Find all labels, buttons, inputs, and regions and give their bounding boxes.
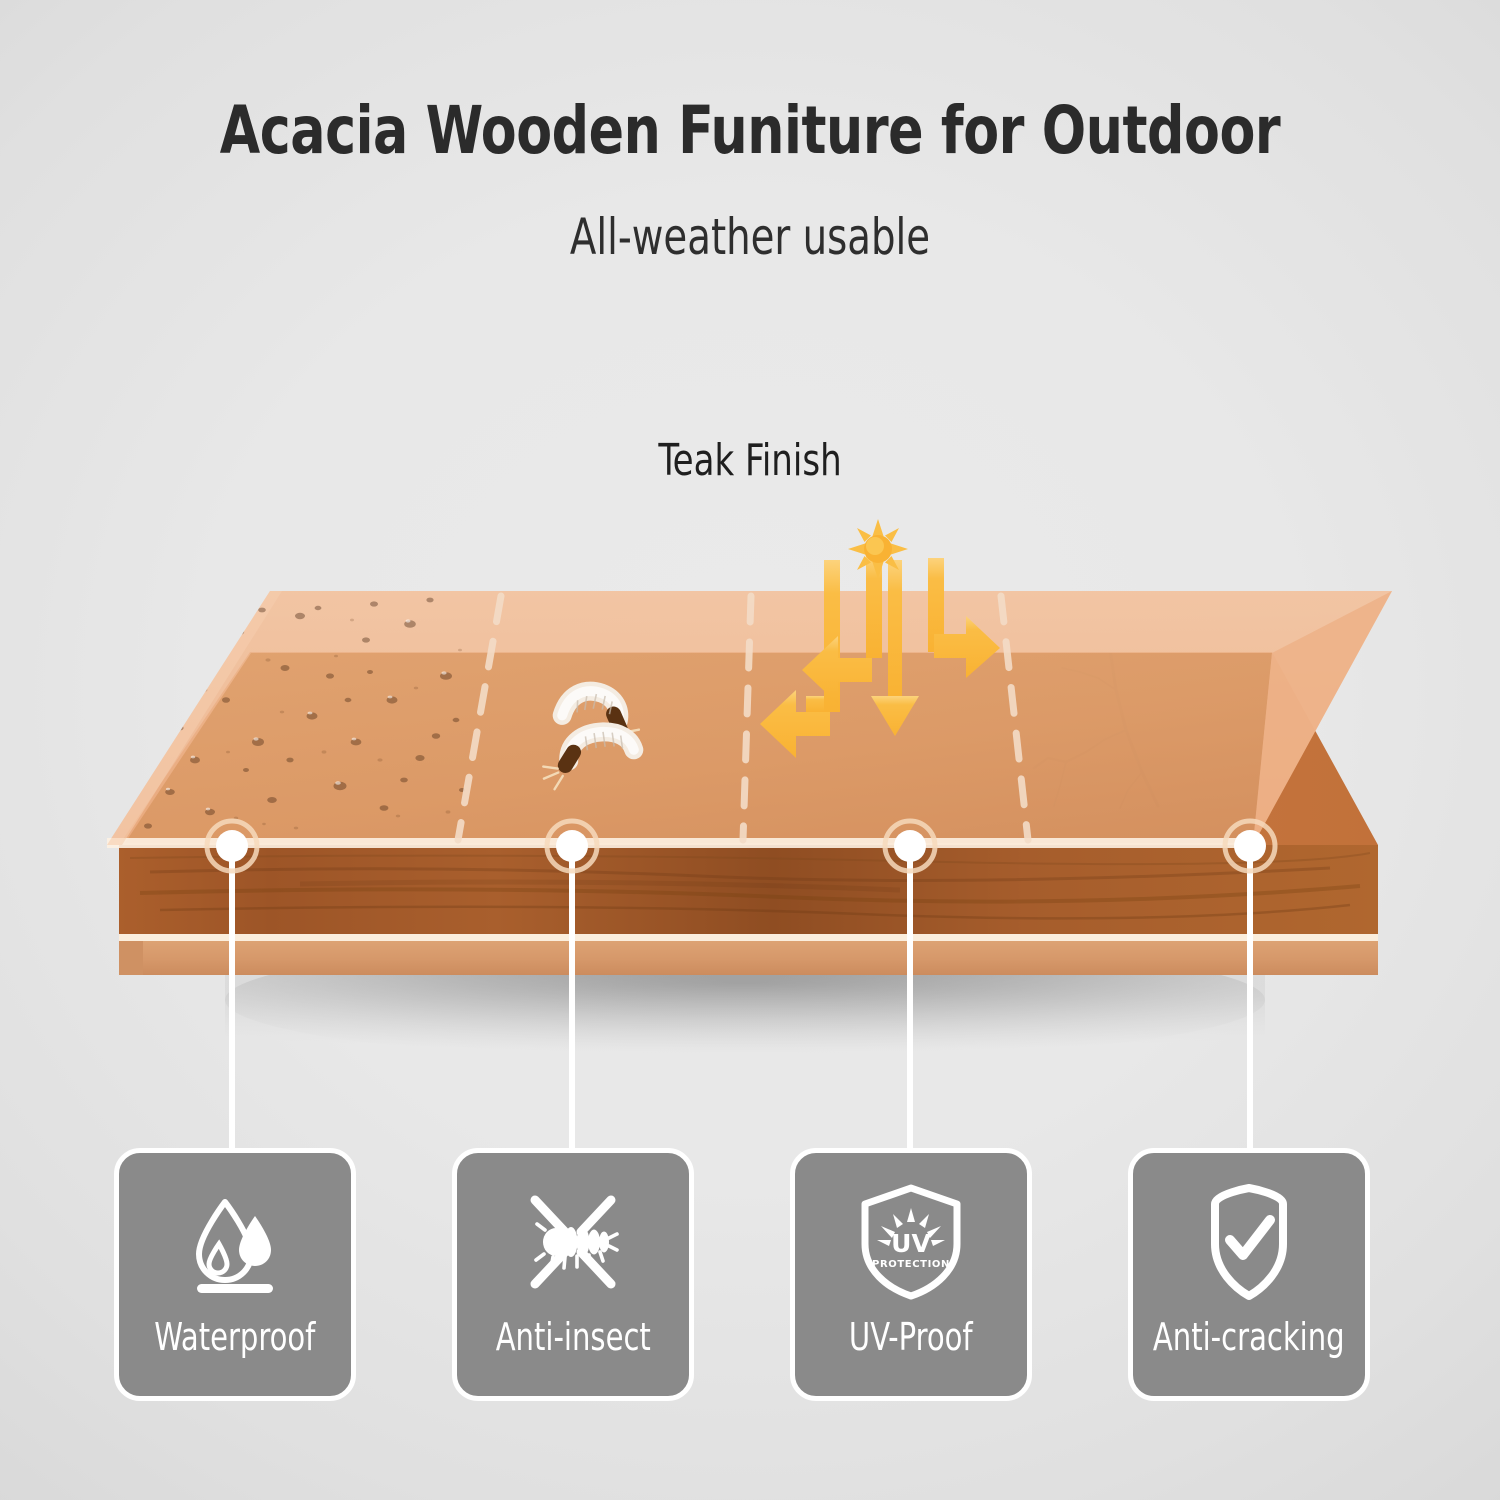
insect-crossed-out-icon bbox=[515, 1183, 631, 1301]
shield-check-icon bbox=[1197, 1183, 1301, 1301]
feature-cards: Waterproof bbox=[0, 1148, 1500, 1418]
uv-protection-shield-icon: UV PROTECTION bbox=[853, 1183, 969, 1301]
feature-card-uv-proof[interactable]: UV PROTECTION UV-Proof bbox=[790, 1148, 1032, 1401]
feature-card-anti-cracking[interactable]: Anti-cracking bbox=[1128, 1148, 1370, 1401]
board-edge-highlight bbox=[119, 933, 1378, 941]
feature-card-label: Waterproof bbox=[154, 1315, 315, 1359]
feature-card-label: Anti-insect bbox=[495, 1315, 650, 1359]
uv-badge-secondary: PROTECTION bbox=[872, 1259, 950, 1270]
coating-bottom-edge bbox=[107, 838, 1253, 848]
feature-card-anti-insect[interactable]: Anti-insect bbox=[452, 1148, 694, 1401]
feature-card-waterproof[interactable]: Waterproof bbox=[114, 1148, 356, 1401]
sun-icon bbox=[848, 519, 908, 579]
coating-layer-body bbox=[125, 653, 1272, 843]
uv-badge-primary: UV bbox=[891, 1229, 931, 1258]
feature-card-label: UV-Proof bbox=[849, 1315, 973, 1359]
board-bottom-edge bbox=[119, 940, 1378, 975]
water-drop-icon bbox=[179, 1183, 291, 1301]
feature-card-label: Anti-cracking bbox=[1153, 1315, 1345, 1359]
